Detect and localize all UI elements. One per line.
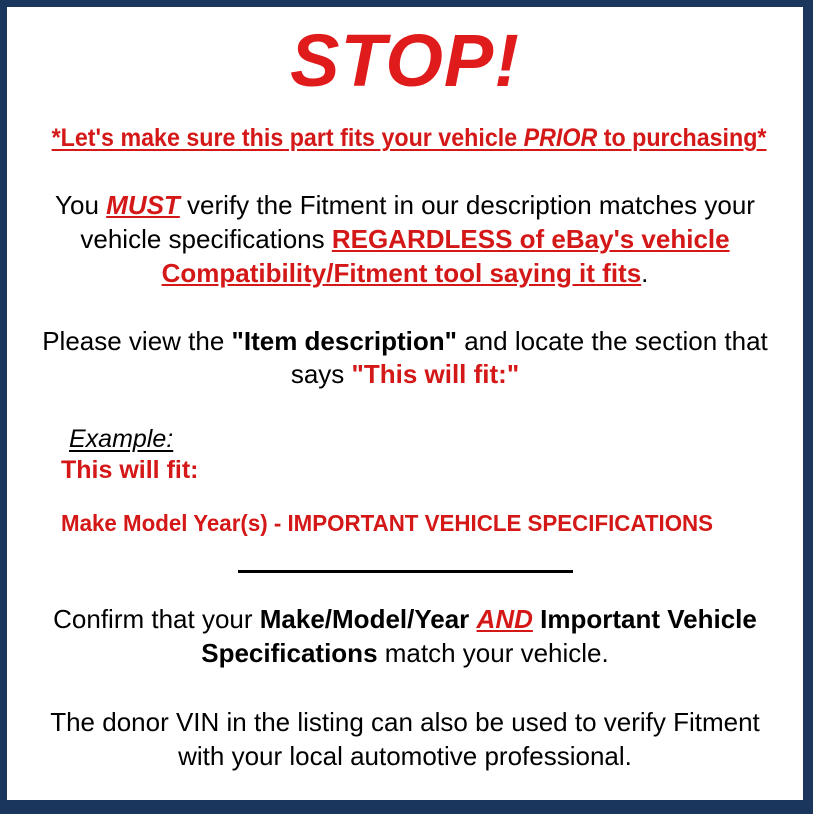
tagline-prior-emphasis: PRIOR bbox=[524, 124, 598, 152]
paragraph-donor-vin: The donor VIN in the listing can also be… bbox=[25, 706, 785, 774]
must-text-1: You bbox=[55, 190, 106, 220]
confirm-text-2 bbox=[469, 604, 476, 634]
paragraph-confirm: Confirm that your Make/Model/Year AND Im… bbox=[25, 603, 785, 671]
notice-border-frame: STOP! *Let's make sure this part fits yo… bbox=[0, 0, 813, 814]
make-model-year-emphasis: Make/Model/Year bbox=[260, 604, 470, 634]
and-emphasis: AND bbox=[477, 604, 533, 634]
item-description-emphasis: "Item description" bbox=[232, 326, 457, 356]
tagline-text-after: to purchasing* bbox=[597, 124, 766, 152]
confirm-text-4: match your vehicle. bbox=[378, 638, 609, 668]
tagline-text-before: *Let's make sure this part fits your veh… bbox=[52, 124, 524, 152]
please-text-1: Please view the bbox=[42, 326, 231, 356]
divider-line bbox=[238, 570, 573, 573]
this-will-fit-emphasis: "This will fit:" bbox=[352, 359, 520, 389]
paragraph-please-view: Please view the "Item description" and l… bbox=[25, 325, 785, 393]
notice-content-panel: STOP! *Let's make sure this part fits yo… bbox=[7, 7, 803, 800]
must-emphasis: MUST bbox=[106, 190, 180, 220]
tagline: *Let's make sure this part fits your veh… bbox=[52, 124, 759, 153]
confirm-text-1: Confirm that your bbox=[53, 604, 260, 634]
example-spec-line: Make Model Year(s) - IMPORTANT VEHICLE S… bbox=[61, 510, 763, 536]
divider bbox=[25, 563, 785, 581]
stop-heading: STOP! bbox=[25, 23, 785, 98]
example-block: Example: This will fit: Make Model Year(… bbox=[25, 426, 785, 537]
thanks-message: Thank you for confirming Fitment! bbox=[25, 796, 785, 800]
paragraph-must-verify: You MUST verify the Fitment in our descr… bbox=[25, 189, 785, 290]
example-label: Example: bbox=[69, 426, 173, 454]
example-fit-line: This will fit: bbox=[61, 456, 785, 485]
must-text-3: . bbox=[641, 258, 648, 288]
